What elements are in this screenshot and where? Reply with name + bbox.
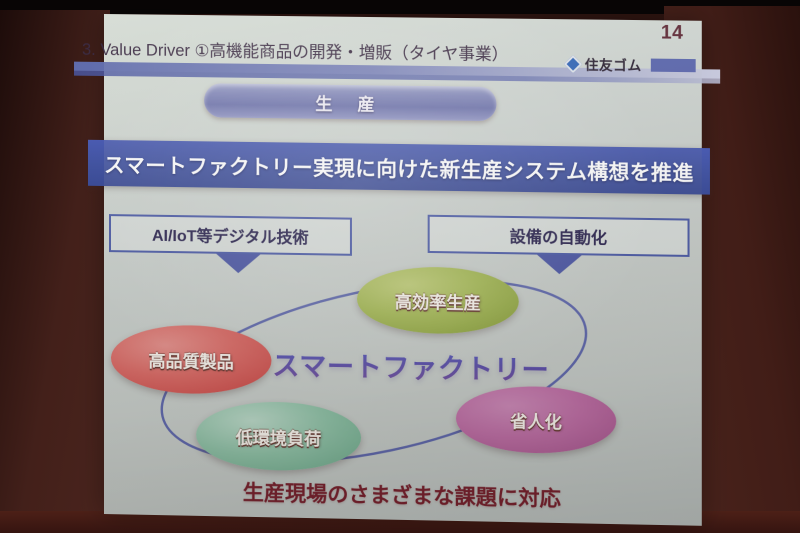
- page-number: 14: [661, 22, 684, 44]
- diagram-node-low-environmental-load-label: 低環境負荷: [236, 423, 321, 450]
- section-pill: 生 産: [204, 83, 496, 121]
- section-pill-label: 生 産: [315, 89, 384, 115]
- diamond-icon: [564, 54, 583, 73]
- diagram-center-label: スマートファクトリー: [259, 344, 562, 388]
- enabler-box-automation-label: 設備の自動化: [510, 223, 607, 249]
- enabler-box-digital-tech-label: AI/IoT等デジタル技術: [152, 222, 309, 248]
- projected-slide-photo: 14 3. Value Driver ①高機能商品の開発・増販（タイヤ事業） 住…: [0, 0, 800, 533]
- enabler-box-automation: 設備の自動化: [428, 215, 690, 257]
- headline-banner-text: スマートファクトリー実現に向けた新生産システム構想を推進: [104, 148, 694, 186]
- company-logo-text: 住友ゴム: [585, 54, 642, 75]
- diagram-node-high-quality-label: 高品質製品: [149, 346, 234, 372]
- company-logo: 住友ゴム: [566, 54, 695, 76]
- diagram-node-labor-saving-label: 省人化: [510, 407, 562, 433]
- slide-header-title: 3. Value Driver ①高機能商品の開発・増販（タイヤ事業）: [82, 36, 606, 66]
- smart-factory-diagram: 高効率生産 高品質製品 省人化 低環境負荷 スマートファクトリー: [104, 259, 702, 485]
- room-wall-left: [0, 10, 110, 533]
- headline-banner: スマートファクトリー実現に向けた新生産システム構想を推進: [88, 140, 710, 195]
- presentation-slide: 14 3. Value Driver ①高機能商品の開発・増販（タイヤ事業） 住…: [104, 14, 702, 526]
- enabler-box-digital-tech: AI/IoT等デジタル技術: [109, 214, 352, 256]
- logo-block: [651, 58, 696, 72]
- diagram-node-high-efficiency-label: 高効率生産: [395, 287, 481, 314]
